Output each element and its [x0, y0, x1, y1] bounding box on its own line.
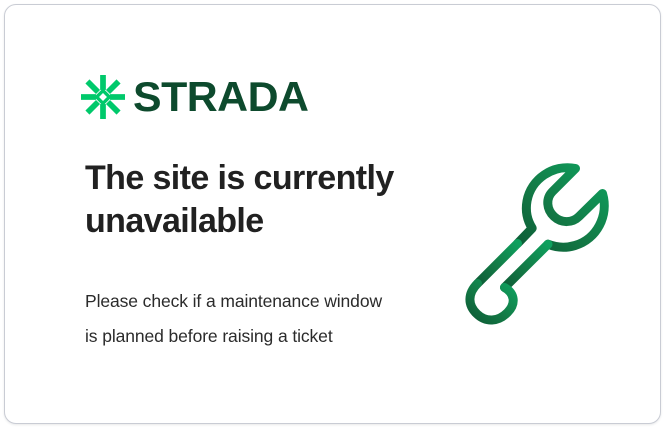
wrench-icon: [457, 153, 627, 325]
brand-name: STRADA: [133, 76, 308, 118]
brand-lockup: STRADA: [81, 71, 305, 123]
error-page: STRADA The site is currently unavailable…: [0, 0, 666, 436]
strada-asterisk-icon: [81, 75, 125, 119]
page-title: The site is currently unavailable: [85, 157, 415, 243]
status-card: STRADA The site is currently unavailable…: [4, 4, 661, 424]
message-block: The site is currently unavailable Please…: [85, 157, 415, 354]
page-description: Please check if a maintenance window is …: [85, 243, 385, 354]
